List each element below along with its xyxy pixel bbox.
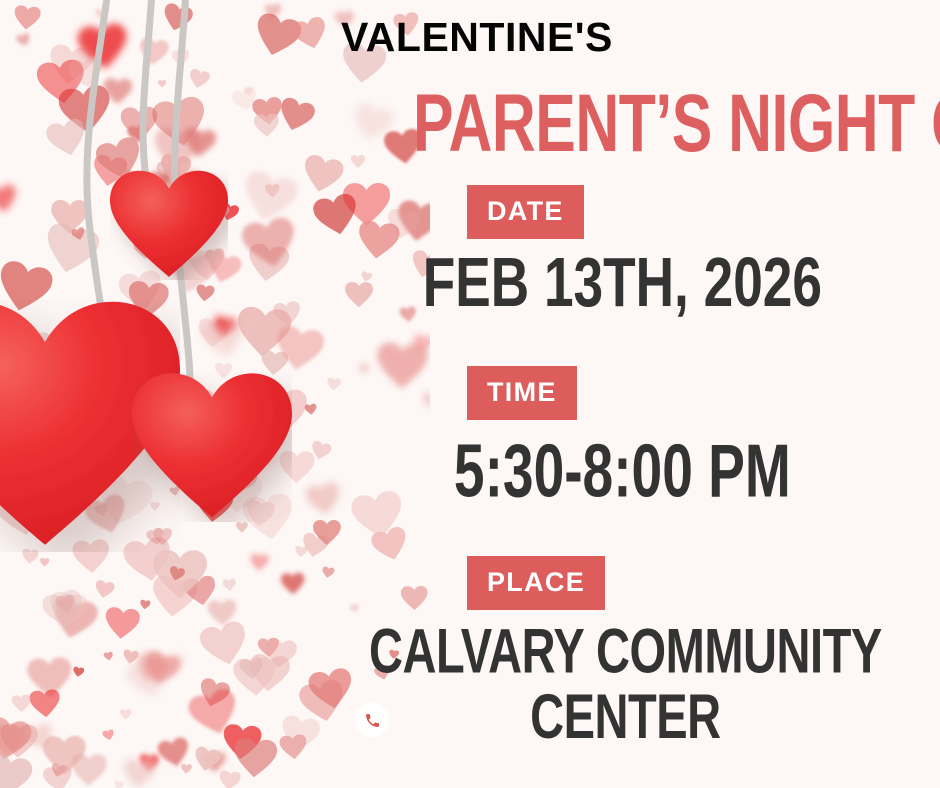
decorative-heart [204, 247, 226, 268]
decorative-heart [300, 532, 330, 560]
value-time: 5:30-8:00 PM [335, 434, 910, 509]
decorative-heart [232, 656, 277, 698]
decorative-heart [187, 68, 211, 90]
decorative-heart [231, 86, 260, 114]
decorative-heart [241, 491, 296, 543]
decorative-heart [11, 378, 47, 413]
decorative-heart [185, 687, 242, 742]
decorative-heart [0, 725, 25, 758]
decorative-heart [50, 762, 68, 779]
decorative-heart [258, 637, 280, 658]
decorative-heart [18, 358, 35, 374]
decorative-heart [70, 227, 86, 242]
decorative-heart [214, 470, 264, 517]
decorative-heart [0, 434, 44, 484]
decorative-heart [218, 202, 240, 223]
decorative-heart [205, 458, 227, 479]
decorative-heart [42, 764, 75, 788]
decorative-heart [171, 49, 190, 67]
decorative-heart [48, 595, 100, 644]
decorative-heart [309, 440, 332, 462]
decorative-heart [195, 284, 215, 303]
decorative-heart [191, 746, 221, 775]
decorative-heart [264, 184, 279, 198]
decorative-heart [36, 59, 88, 108]
decorative-heart [262, 636, 298, 670]
value-place: CALVARY COMMUNITY CENTER [335, 620, 916, 750]
decorative-heart [215, 363, 232, 379]
decorative-heart [153, 528, 172, 546]
decorative-heart [94, 579, 116, 600]
decorative-heart [22, 549, 40, 566]
decorative-heart [305, 403, 318, 416]
decorative-heart [126, 280, 169, 320]
decorative-heart [110, 167, 162, 217]
detail-block-place: PLACE CALVARY COMMUNITY CENTER [335, 556, 940, 722]
decorative-heart [197, 619, 251, 670]
decorative-heart [51, 200, 89, 235]
badge-place: PLACE [467, 556, 605, 610]
decorative-heart [245, 242, 290, 284]
decorative-heart [91, 471, 155, 532]
decorative-heart [294, 546, 307, 558]
decorative-heart [273, 325, 326, 375]
decorative-heart [227, 409, 286, 465]
decorative-heart [94, 135, 147, 185]
decorative-heart [67, 348, 124, 402]
decorative-heart [229, 467, 258, 495]
decorative-heart [238, 168, 300, 227]
decorative-heart [102, 76, 132, 105]
decorative-heart [251, 11, 304, 62]
decorative-heart [211, 488, 227, 503]
decorative-heart [79, 359, 117, 395]
decorative-heart [207, 599, 237, 627]
decorative-heart [247, 438, 277, 466]
decorative-heart [12, 391, 68, 443]
page-title: PARENT’S NIGHT OUT [413, 85, 929, 165]
decorative-heart [54, 593, 76, 614]
decorative-heart [265, 4, 283, 21]
decorative-heart [243, 471, 254, 481]
decorative-heart [159, 451, 197, 486]
decorative-heart [46, 43, 93, 87]
decorative-heart [168, 565, 187, 583]
hanging-heart-small [110, 170, 228, 280]
hanging-heart-large [0, 300, 180, 552]
decorative-heart [275, 96, 317, 136]
decorative-heart [94, 358, 119, 381]
decorative-heart [47, 591, 89, 631]
decorative-heart [149, 171, 171, 192]
decorative-heart [162, 387, 225, 447]
decorative-heart [72, 666, 84, 678]
content-column: VALENTINE'S PARENT’S NIGHT OUT DATE FEB … [335, 0, 940, 788]
decorative-heart [240, 215, 300, 272]
decorative-heart [248, 653, 292, 694]
decorative-heart [44, 117, 90, 160]
badge-row-place: PLACE [335, 556, 940, 610]
decorative-heart [203, 752, 226, 774]
decorative-heart [153, 549, 208, 599]
decorative-heart [278, 714, 321, 755]
decorative-heart [77, 23, 131, 73]
decorative-heart [232, 737, 277, 779]
decorative-heart [95, 440, 117, 460]
decorative-heart [43, 736, 86, 776]
decorative-heart [132, 651, 169, 686]
decorative-heart [160, 2, 194, 34]
decorative-heart [0, 715, 34, 764]
decorative-heart [94, 503, 111, 519]
decorative-heart [249, 554, 269, 572]
decorative-heart [124, 655, 174, 703]
decorative-heart [181, 764, 192, 775]
decorative-heart [71, 753, 108, 787]
decorative-heart [235, 306, 292, 360]
badge-date: DATE [467, 185, 584, 239]
decorative-heart [232, 438, 278, 482]
decorative-heart [166, 250, 216, 297]
decorative-heart [251, 379, 276, 403]
badge-time: TIME [467, 366, 577, 420]
decorative-heart [140, 649, 182, 689]
decorative-heart [57, 331, 76, 349]
decorative-heart [159, 153, 193, 185]
decorative-heart [87, 443, 103, 458]
valentines-flyer: VALENTINE'S PARENT’S NIGHT OUT DATE FEB … [0, 0, 940, 788]
decorative-heart [0, 452, 24, 480]
decorative-heart [205, 251, 243, 288]
decorative-heart [0, 752, 34, 788]
decorative-heart [237, 317, 256, 335]
decorative-heart [158, 80, 166, 88]
decorative-heart [41, 221, 102, 279]
decorative-heart [147, 375, 198, 422]
decorative-heart [321, 566, 335, 579]
decorative-heart [279, 734, 308, 761]
badge-row-time: TIME [335, 366, 940, 420]
decorative-heart [272, 301, 302, 329]
decorative-heart [199, 314, 249, 361]
decorative-heart [108, 335, 159, 383]
decorative-heart [40, 587, 87, 632]
decorative-heart [20, 362, 40, 381]
decorative-heart [278, 450, 314, 484]
decorative-heart [53, 378, 68, 392]
decorative-heart [120, 709, 132, 720]
decorative-heart [251, 96, 284, 127]
decorative-heart [0, 184, 20, 216]
decorative-heart [169, 487, 180, 497]
decorative-heart [245, 500, 276, 529]
decorative-heart [210, 204, 229, 222]
hanging-heart-medium [132, 372, 292, 522]
decorative-heart [188, 248, 225, 282]
decorative-heart [197, 318, 231, 349]
eyebrow-text: VALENTINE'S [341, 17, 613, 58]
decorative-heart [0, 259, 55, 318]
decorative-heart [150, 95, 210, 151]
decorative-heart [122, 535, 175, 585]
decorative-heart [139, 753, 160, 772]
decorative-heart [290, 15, 330, 53]
decorative-heart [0, 480, 22, 507]
decorative-heart [221, 723, 262, 761]
decorative-heart [91, 154, 129, 189]
decorative-heart [253, 114, 279, 138]
decorative-heart [238, 656, 264, 680]
decorative-heart [259, 389, 309, 435]
decorative-heart [57, 83, 114, 136]
decorative-heart [222, 578, 237, 592]
decorative-heart [12, 695, 32, 714]
decorative-heart [126, 124, 149, 146]
decorative-heart [183, 574, 219, 608]
decorative-heart [194, 487, 235, 525]
decorative-heart [113, 396, 139, 421]
decorative-heart [67, 55, 107, 93]
decorative-heart [23, 721, 56, 752]
decorative-heart [113, 780, 124, 788]
decorative-heart [13, 5, 42, 32]
decorative-heart [280, 572, 305, 595]
decorative-heart [85, 429, 110, 452]
decorative-heart [38, 405, 60, 425]
decorative-heart [103, 349, 140, 383]
decorative-heart [122, 649, 139, 665]
decorative-heart [243, 86, 253, 95]
decorative-heart [40, 557, 50, 566]
decorative-heart [137, 36, 170, 67]
detail-block-date: DATE FEB 13TH, 2026 [335, 185, 940, 303]
decorative-heart [74, 373, 111, 408]
decorative-heart [133, 238, 157, 260]
decorative-heart [103, 651, 114, 661]
decorative-heart [27, 657, 73, 700]
decorative-heart [152, 127, 202, 174]
decorative-heart [117, 269, 165, 314]
decorative-heart [102, 729, 115, 742]
decorative-heart [120, 107, 158, 142]
decorative-heart [149, 575, 197, 620]
decorative-heart [140, 599, 151, 610]
value-date: FEB 13TH, 2026 [335, 247, 910, 317]
decorative-heart [72, 538, 111, 574]
decorative-heart [164, 170, 203, 206]
decorative-heart [15, 32, 31, 47]
decorative-heart [236, 522, 248, 533]
decorative-heart [112, 188, 129, 205]
detail-block-time: TIME 5:30-8:00 PM [335, 366, 940, 492]
decorative-heart [0, 414, 30, 454]
decorative-heart [179, 581, 191, 592]
decorative-heart [157, 736, 193, 770]
decorative-heart [102, 387, 159, 441]
decorative-heart [81, 373, 114, 404]
decorative-heart [29, 688, 62, 718]
decorative-heart [150, 501, 160, 511]
decorative-heart [94, 8, 107, 21]
decorative-heart [217, 770, 240, 788]
decorative-heart [172, 653, 186, 666]
decorative-heart [0, 723, 38, 760]
decorative-heart [0, 487, 50, 540]
decorative-heart [211, 315, 237, 339]
decorative-heart [155, 161, 181, 185]
decorative-heart [104, 79, 132, 105]
decorative-heart [196, 676, 232, 710]
decorative-heart [260, 350, 289, 377]
decorative-heart [145, 527, 166, 547]
decorative-heart [34, 332, 69, 365]
decorative-heart [103, 606, 140, 641]
badge-row-date: DATE [335, 185, 940, 239]
decorative-heart [121, 758, 156, 788]
decorative-heart [73, 317, 93, 336]
decorative-heart [182, 127, 217, 160]
decorative-heart [83, 492, 132, 539]
